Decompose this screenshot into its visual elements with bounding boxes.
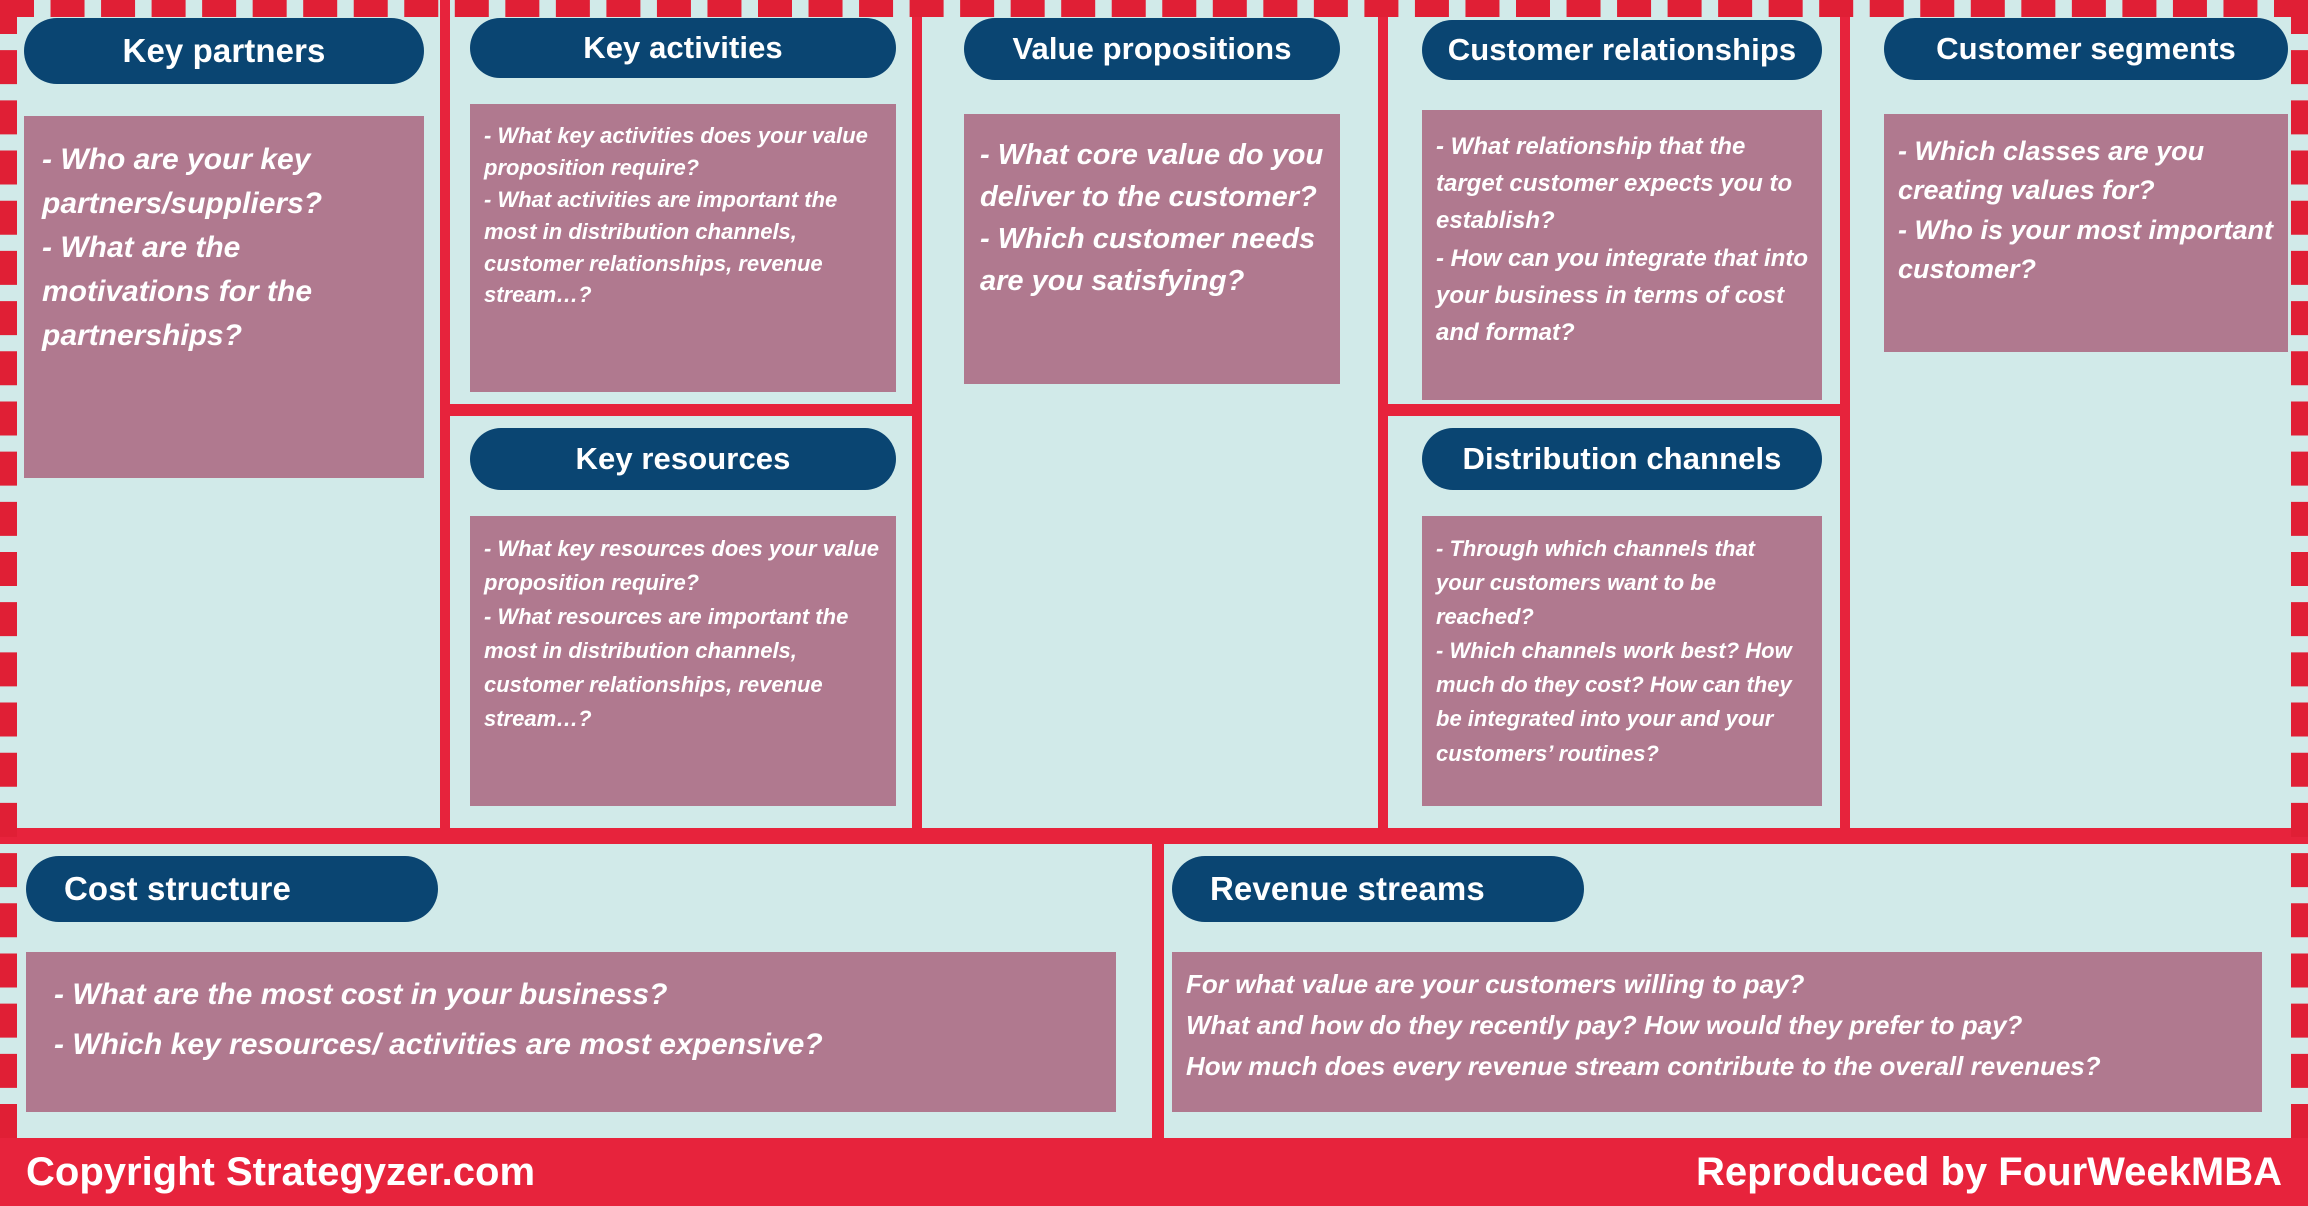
column-key-partners: Key partners - Who are your key partners…: [0, 0, 448, 836]
block-body-customer-segments: - Which classes are you creating values …: [1884, 114, 2288, 352]
note-line: For what value are your customers willin…: [1186, 964, 2248, 1005]
block-customer-segments[interactable]: Customer segments - Which classes are yo…: [1870, 14, 2290, 826]
block-body-cost-structure: - What are the most cost in your busines…: [26, 952, 1116, 1112]
column-key-activities-resources: Key activities - What key activities doe…: [448, 0, 918, 836]
note-line: - Which customer needs are you satisfyin…: [980, 218, 1324, 302]
block-title-value-propositions: Value propositions: [964, 18, 1340, 80]
note-line: - What core value do you deliver to the …: [980, 134, 1324, 218]
block-customer-relationships[interactable]: Customer relationships - What relationsh…: [1394, 14, 1836, 404]
block-key-resources[interactable]: Key resources - What key resources does …: [458, 416, 908, 826]
divider-col2-col3: [912, 0, 922, 836]
note-line: - Which channels work best? How much do …: [1436, 634, 1808, 770]
block-key-activities[interactable]: Key activities - What key activities doe…: [458, 14, 908, 404]
block-title-key-resources: Key resources: [470, 428, 896, 490]
footer-copyright: Copyright Strategyzer.com: [26, 1152, 535, 1192]
note-line: - What activities are important the most…: [484, 184, 882, 312]
note-line: - What resources are important the most …: [484, 600, 882, 736]
block-title-customer-segments: Customer segments: [1884, 18, 2288, 80]
block-body-revenue-streams: For what value are your customers willin…: [1172, 952, 2262, 1112]
note-line: - How can you integrate that into your b…: [1436, 240, 1808, 352]
note-line: - Who is your most important customer?: [1898, 211, 2274, 290]
note-line: - What are the most cost in your busines…: [54, 970, 1088, 1020]
note-line: - Through which channels that your custo…: [1436, 532, 1808, 634]
block-title-key-partners: Key partners: [24, 18, 424, 84]
divider-col3-col4: [1378, 0, 1388, 836]
canvas-footer: Copyright Strategyzer.com Reproduced by …: [0, 1138, 2308, 1206]
block-body-distribution-channels: - Through which channels that your custo…: [1422, 516, 1822, 806]
block-title-distribution-channels: Distribution channels: [1422, 428, 1822, 490]
note-line: What and how do they recently pay? How w…: [1186, 1005, 2248, 1046]
column-value-propositions: Value propositions - What core value do …: [918, 0, 1384, 836]
note-line: - What key resources does your value pro…: [484, 532, 882, 600]
block-title-revenue-streams: Revenue streams: [1172, 856, 1584, 922]
block-title-key-activities: Key activities: [470, 18, 896, 78]
block-value-propositions[interactable]: Value propositions - What core value do …: [930, 14, 1372, 826]
canvas-bottom-band: Cost structure - What are the most cost …: [0, 836, 2308, 1138]
note-line: - Which key resources/ activities are mo…: [54, 1020, 1088, 1070]
divider-col4-col5: [1840, 0, 1850, 836]
note-line: - What are the motivations for the partn…: [42, 226, 406, 358]
column-customer-segments: Customer segments - Which classes are yo…: [1846, 0, 2308, 836]
block-body-customer-relationships: - What relationship that the target cust…: [1422, 110, 1822, 400]
note-line: - Who are your key partners/suppliers?: [42, 138, 406, 226]
block-title-cost-structure: Cost structure: [26, 856, 438, 922]
divider-col1-col2: [440, 0, 450, 836]
canvas-top-band: Key partners - Who are your key partners…: [0, 0, 2308, 836]
column-customer-relationships-channels: Customer relationships - What relationsh…: [1384, 0, 1846, 836]
note-line: How much does every revenue stream contr…: [1186, 1046, 2248, 1087]
block-revenue-streams[interactable]: Revenue streams For what value are your …: [1172, 848, 2296, 1134]
divider-relationships-channels: [1378, 404, 1850, 416]
block-body-key-partners: - Who are your key partners/suppliers? -…: [24, 116, 424, 478]
note-line: - What key activities does your value pr…: [484, 120, 882, 184]
block-cost-structure[interactable]: Cost structure - What are the most cost …: [18, 848, 1148, 1134]
business-model-canvas: Key partners - Who are your key partners…: [0, 0, 2308, 1206]
block-body-value-propositions: - What core value do you deliver to the …: [964, 114, 1340, 384]
divider-activities-resources: [440, 404, 922, 416]
note-line: - Which classes are you creating values …: [1898, 132, 2274, 211]
divider-cost-revenue: [1152, 836, 1164, 1138]
block-distribution-channels[interactable]: Distribution channels - Through which ch…: [1394, 416, 1836, 826]
block-title-customer-relationships: Customer relationships: [1422, 20, 1822, 80]
block-key-partners[interactable]: Key partners - Who are your key partners…: [18, 14, 430, 826]
block-body-key-resources: - What key resources does your value pro…: [470, 516, 896, 806]
footer-reproduced-by: Reproduced by FourWeekMBA: [1696, 1152, 2282, 1192]
note-line: - What relationship that the target cust…: [1436, 128, 1808, 240]
block-body-key-activities: - What key activities does your value pr…: [470, 104, 896, 392]
